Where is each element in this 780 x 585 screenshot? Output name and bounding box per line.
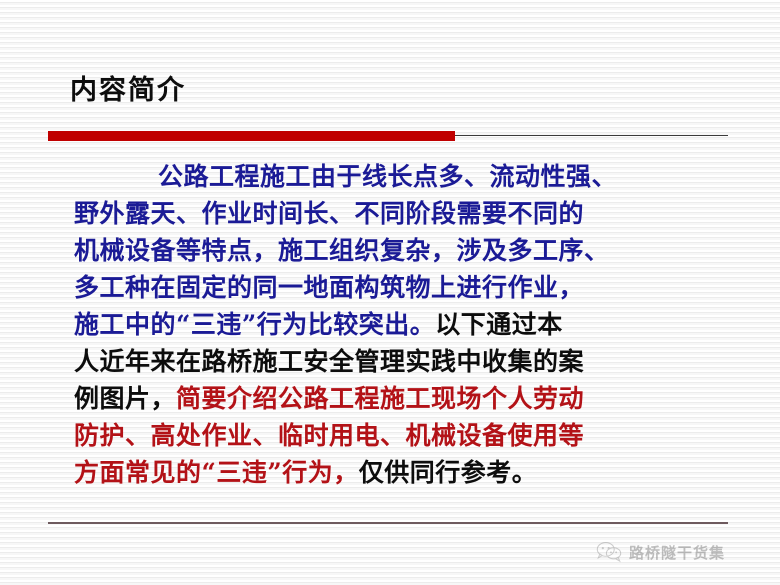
body-text-line: 人近年来在路桥施工安全管理实践中收集的案 xyxy=(74,343,714,380)
body-text-line: 方面常见的“三违”行为，仅供同行参考。 xyxy=(74,454,714,491)
body-text-segment: 仅供同行参考。 xyxy=(359,458,538,487)
watermark-label: 路桥隧干货集 xyxy=(629,542,725,563)
body-text-segment: 以下通过本 xyxy=(435,310,563,339)
wechat-icon xyxy=(596,541,622,563)
body-text-segment: 施工中的“三违”行为比较突出。 xyxy=(74,310,435,339)
body-text-segment: 多工种在固定的同一地面构筑物上进行作业， xyxy=(74,273,584,302)
body-text-line: 防护、高处作业、临时用电、机械设备使用等 xyxy=(74,417,714,454)
title-divider-accent-bar xyxy=(48,131,455,141)
title-divider xyxy=(48,131,728,141)
body-text-line: 例图片，简要介绍公路工程施工现场个人劳动 xyxy=(74,380,714,417)
body-text-segment: 防护、高处作业、临时用电、机械设备使用等 xyxy=(74,421,584,450)
body-text-line: 机械设备等特点，施工组织复杂，涉及多工序、 xyxy=(74,232,714,269)
title-divider-thin-line xyxy=(455,135,728,136)
page-title: 内容简介 xyxy=(70,74,710,108)
body-text-segment: 方面常见的“三违”行为， xyxy=(74,458,359,487)
body-text-line: 施工中的“三违”行为比较突出。以下通过本 xyxy=(74,306,714,343)
title-area: 内容简介 xyxy=(70,74,710,122)
body-text-line: 公路工程施工由于线长点多、流动性强、 xyxy=(74,158,714,195)
body-text-line: 野外露天、作业时间长、不同阶段需要不同的 xyxy=(74,195,714,232)
bottom-divider xyxy=(48,522,728,524)
body-text-segment: 机械设备等特点，施工组织复杂，涉及多工序、 xyxy=(74,236,610,265)
body-text-line: 多工种在固定的同一地面构筑物上进行作业， xyxy=(74,269,714,306)
body-text-segment: 例图片， xyxy=(74,384,176,413)
body-text-block: 公路工程施工由于线长点多、流动性强、野外露天、作业时间长、不同阶段需要不同的机械… xyxy=(74,158,714,491)
watermark: 路桥隧干货集 xyxy=(596,541,725,563)
body-text-segment: 简要介绍公路工程施工现场个人劳动 xyxy=(176,384,584,413)
slide-canvas: 内容简介 公路工程施工由于线长点多、流动性强、野外露天、作业时间长、不同阶段需要… xyxy=(0,0,780,585)
body-text-segment: 人近年来在路桥施工安全管理实践中收集的案 xyxy=(74,347,584,376)
body-text-segment: 野外露天、作业时间长、不同阶段需要不同的 xyxy=(74,199,584,228)
body-text-segment: 公路工程施工由于线长点多、流动性强、 xyxy=(158,162,617,191)
